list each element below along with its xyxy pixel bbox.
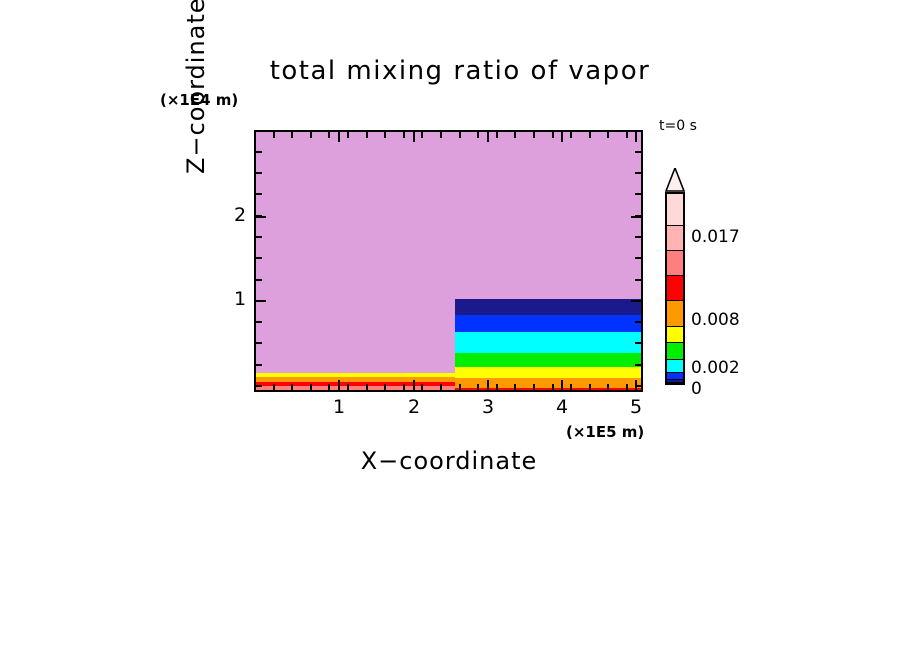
colorbar-extend-arrow	[665, 168, 685, 192]
xtick-minor-top-15	[552, 132, 554, 138]
xtick-minor-11	[477, 384, 479, 390]
xtick-5-mark-top	[635, 132, 637, 142]
xtick-3-mark-top	[487, 132, 489, 142]
ytick-minor-5	[256, 257, 262, 259]
column-cyan	[455, 332, 641, 353]
xtick-3-mark	[487, 380, 489, 390]
cb-band-7	[667, 300, 683, 326]
xtick-minor-7	[403, 384, 405, 390]
ytick-minor-right-5	[635, 257, 641, 259]
ytick-minor-2	[256, 193, 262, 195]
xtick-2-mark-top	[413, 132, 415, 142]
ytick-1-mark-right	[631, 300, 641, 302]
cb-label-008: 0.008	[691, 310, 740, 330]
column-yellow	[455, 367, 641, 378]
xtick-minor-top-3	[328, 132, 330, 138]
xtick-5-mark	[635, 380, 637, 390]
cb-band-9	[667, 250, 683, 275]
cb-label-002: 0.002	[691, 358, 740, 378]
xtick-minor-6	[384, 384, 386, 390]
cb-band-4-separator	[667, 359, 683, 360]
xtick-1-mark	[338, 380, 340, 390]
column-green	[455, 353, 641, 367]
timestamp-label: t=0 s	[659, 118, 697, 134]
xtick-minor-top-10	[459, 132, 461, 138]
cb-band-4	[667, 359, 683, 372]
xtick-1-mark-top	[338, 132, 340, 142]
xtick-minor-2	[310, 384, 312, 390]
cb-band-7-separator	[667, 300, 683, 301]
ytick-minor-right-6	[635, 279, 641, 281]
ytick-minor-right-9	[635, 342, 641, 344]
column-darkblue	[455, 299, 641, 315]
xtick-minor-10	[459, 384, 461, 390]
ytick-1-label: 1	[228, 288, 252, 310]
xtick-minor-4	[347, 384, 349, 390]
xtick-minor-top-0	[273, 132, 275, 138]
xtick-minor-9	[440, 384, 442, 390]
xtick-minor-top-1	[291, 132, 293, 138]
column-orange	[455, 378, 641, 388]
xtick-minor-17	[589, 384, 591, 390]
xtick-minor-top-4	[347, 132, 349, 138]
cb-band-2-separator	[667, 379, 683, 380]
xtick-minor-16	[570, 384, 572, 390]
ytick-minor-right-10	[635, 364, 641, 366]
xtick-minor-top-13	[514, 132, 516, 138]
cb-band-5-separator	[667, 342, 683, 343]
ytick-1-mark	[256, 300, 266, 302]
xtick-minor-top-12	[496, 132, 498, 138]
xtick-minor-15	[552, 384, 554, 390]
ytick-minor-10	[256, 364, 262, 366]
ytick-minor-1	[256, 172, 262, 174]
colorbar[interactable]	[665, 192, 685, 385]
ytick-minor-9	[256, 342, 262, 344]
cb-band-11	[667, 194, 683, 225]
x-axis-unit-label: (×1E5 m)	[566, 423, 644, 441]
page-title: total mixing ratio of vapor	[230, 56, 690, 86]
ytick-minor-8	[256, 321, 262, 323]
cb-band-8-separator	[667, 275, 683, 276]
ytick-minor-right-4	[635, 236, 641, 238]
xtick-minor-top-14	[533, 132, 535, 138]
ytick-2-mark	[256, 216, 266, 218]
xtick-minor-14	[533, 384, 535, 390]
x-axis-title: X−coordinate	[274, 447, 624, 475]
xtick-2-label: 2	[402, 396, 426, 418]
xtick-minor-13	[514, 384, 516, 390]
xtick-minor-top-5	[366, 132, 368, 138]
xtick-minor-19	[626, 384, 628, 390]
xtick-3-label: 3	[476, 396, 500, 418]
xtick-4-mark	[561, 380, 563, 390]
xtick-minor-18	[607, 384, 609, 390]
cb-label-017: 0.017	[691, 227, 740, 247]
xtick-4-mark-top	[561, 132, 563, 142]
ytick-minor-right-0	[635, 151, 641, 153]
ytick-minor-right-8	[635, 321, 641, 323]
xtick-minor-12	[496, 384, 498, 390]
ytick-minor-right-2	[635, 193, 641, 195]
xtick-minor-top-8	[421, 132, 423, 138]
xtick-minor-top-11	[477, 132, 479, 138]
left-salmon-layer	[256, 386, 455, 392]
ytick-2-label: 2	[228, 204, 252, 226]
y-axis-title: Z−coordinate	[182, 0, 210, 174]
xtick-minor-top-2	[310, 132, 312, 138]
xtick-minor-top-18	[607, 132, 609, 138]
xtick-5-label: 5	[624, 396, 648, 418]
column-red	[455, 388, 641, 392]
xtick-2-mark	[413, 380, 415, 390]
cb-band-3	[667, 372, 683, 379]
figure-canvas: total mixing ratio of vapor (×1E4 m) (×1…	[0, 0, 904, 654]
cb-label-0: 0	[691, 379, 702, 399]
cb-band-8	[667, 275, 683, 300]
xtick-1-label: 1	[327, 396, 351, 418]
cb-band-9-separator	[667, 250, 683, 251]
xtick-minor-1	[291, 384, 293, 390]
xtick-minor-8	[421, 384, 423, 390]
cb-band-1-separator	[667, 382, 683, 383]
xtick-minor-top-16	[570, 132, 572, 138]
xtick-4-label: 4	[550, 396, 574, 418]
xtick-minor-top-19	[626, 132, 628, 138]
ytick-2-mark-right	[631, 216, 641, 218]
xtick-minor-0	[273, 384, 275, 390]
cb-band-6-separator	[667, 326, 683, 327]
xtick-minor-5	[366, 384, 368, 390]
xtick-minor-top-7	[403, 132, 405, 138]
xtick-minor-top-6	[384, 132, 386, 138]
cb-band-10-separator	[667, 225, 683, 226]
xtick-minor-3	[328, 384, 330, 390]
cb-band-6	[667, 326, 683, 342]
ytick-minor-6	[256, 279, 262, 281]
contour-plot-area	[254, 130, 643, 392]
xtick-minor-top-17	[589, 132, 591, 138]
ytick-minor-11	[256, 385, 262, 387]
ytick-minor-4	[256, 236, 262, 238]
ytick-minor-0	[256, 151, 262, 153]
cb-band-3-separator	[667, 372, 683, 373]
xtick-minor-top-9	[440, 132, 442, 138]
cb-band-5	[667, 342, 683, 359]
ytick-minor-right-1	[635, 172, 641, 174]
cb-band-10	[667, 225, 683, 250]
column-blue	[455, 315, 641, 332]
